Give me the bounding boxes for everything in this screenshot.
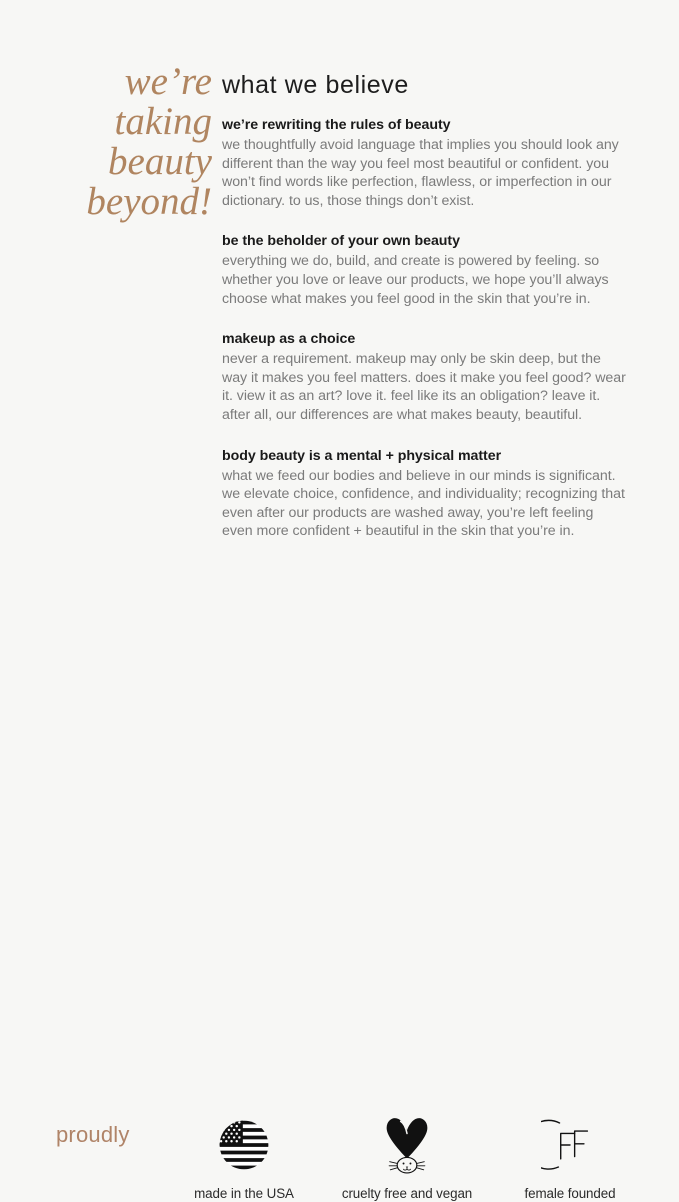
content-area: we’re taking beauty beyond! what we beli… [0,0,679,548]
belief-section: be the beholder of your own beauty every… [222,232,626,308]
belief-body: what we feed our bodies and believe in o… [222,467,626,541]
badge-label: made in the USA [172,1186,316,1202]
badge-label: cruelty free and vegan [320,1186,494,1202]
bunny-heart-ears-icon [320,1114,494,1176]
belief-section: body beauty is a mental + physical matte… [222,447,626,541]
belief-heading: body beauty is a mental + physical matte… [222,447,626,466]
headline-line-1: we’re [40,62,212,102]
brand-values-panel: we’re taking beauty beyond! what we beli… [0,0,679,679]
badge-cruelty-free: cruelty free and vegan [320,1114,494,1202]
proudly-label: proudly [56,1122,130,1148]
belief-heading: be the beholder of your own beauty [222,232,626,251]
belief-heading: makeup as a choice [222,330,626,349]
headline-line-2: taking [40,102,212,142]
ff-monogram-circle-icon [500,1114,640,1176]
usa-flag-circle-icon [172,1114,316,1176]
badge-label: female founded [500,1186,640,1202]
belief-body: we thoughtfully avoid language that impl… [222,136,626,210]
belief-section: makeup as a choice never a requirement. … [222,330,626,424]
page-title: what we believe [222,70,626,100]
headline-line-4: beyond! [40,182,212,222]
headline-line-3: beauty [40,142,212,182]
brand-headline: we’re taking beauty beyond! [40,62,212,222]
belief-body: never a requirement. makeup may only be … [222,350,626,424]
badge-female-founded: female founded [500,1114,640,1202]
what-we-believe-block: what we believe we’re rewriting the rule… [222,70,626,541]
badge-made-in-usa: made in the USA [172,1114,316,1202]
belief-body: everything we do, build, and create is p… [222,252,626,308]
belief-heading: we’re rewriting the rules of beauty [222,116,626,135]
badge-strip: proudly [0,548,679,679]
belief-section: we’re rewriting the rules of beauty we t… [222,116,626,210]
